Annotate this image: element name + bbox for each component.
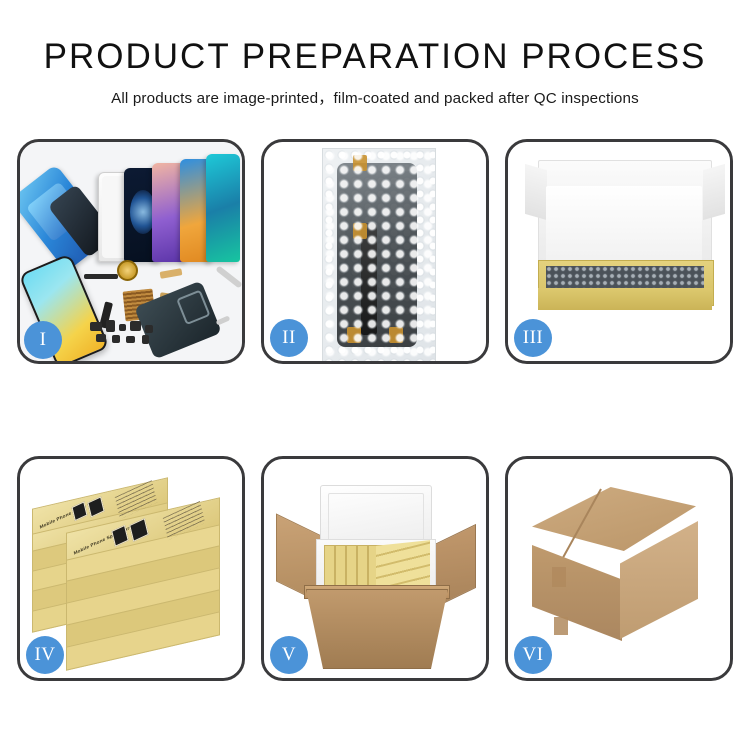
bubble-wrap-bag-icon	[322, 148, 436, 361]
screwdriver-tool-icon	[215, 265, 242, 288]
connector-right-icon	[389, 327, 403, 343]
box-window-front-2	[129, 518, 149, 542]
small-parts-group-icon	[90, 320, 170, 346]
screw-part-icon	[216, 315, 231, 325]
step-5-badge: V	[270, 636, 308, 674]
box-window-back-2	[87, 496, 104, 517]
process-step-2: II	[261, 139, 489, 364]
connector-left-icon	[347, 327, 361, 343]
step-3-badge: III	[514, 319, 552, 357]
flex-cable-part-icon	[84, 274, 118, 279]
speaker-coil-part-icon	[117, 260, 138, 281]
screen-assembly-icon	[337, 163, 417, 347]
page-subtitle: All products are image-printed，film-coat…	[0, 86, 750, 108]
phone-lineup-icon	[98, 154, 240, 262]
box-contents-icon	[546, 266, 704, 288]
phone-teal-icon	[206, 154, 240, 262]
connector-part-icon	[160, 268, 183, 279]
yellow-box-front-icon	[538, 288, 712, 310]
process-steps-grid: I II	[17, 139, 733, 687]
process-step-4: Mobile Phone Spare Parts Mobile Phone Sp…	[17, 456, 245, 681]
process-step-6: VI	[505, 456, 733, 681]
carton-left-face-icon	[532, 545, 622, 641]
process-step-5: V	[261, 456, 489, 681]
page-title: PRODUCT PREPARATION PROCESS	[0, 38, 750, 77]
box-stack-icon: Mobile Phone Spare Parts Mobile Phone Sp…	[26, 477, 236, 667]
product-preparation-process-page: PRODUCT PREPARATION PROCESS All products…	[0, 0, 750, 750]
carton-tape-upper-icon	[552, 567, 566, 587]
page-header: PRODUCT PREPARATION PROCESS All products…	[0, 0, 750, 108]
step-4-badge: IV	[26, 636, 64, 674]
step-1-badge: I	[24, 321, 62, 359]
carton-tape-lower-icon	[554, 617, 568, 635]
screen-flex-cable-icon	[361, 223, 377, 335]
tape-marker-top-icon	[353, 155, 367, 171]
carton-body-icon	[306, 589, 448, 669]
tape-marker-mid-icon	[353, 223, 367, 239]
process-step-3: III	[505, 139, 733, 364]
step-6-badge: VI	[514, 636, 552, 674]
step-2-badge: II	[270, 319, 308, 357]
foam-sheet-icon	[546, 186, 702, 270]
process-step-1: I	[17, 139, 245, 364]
